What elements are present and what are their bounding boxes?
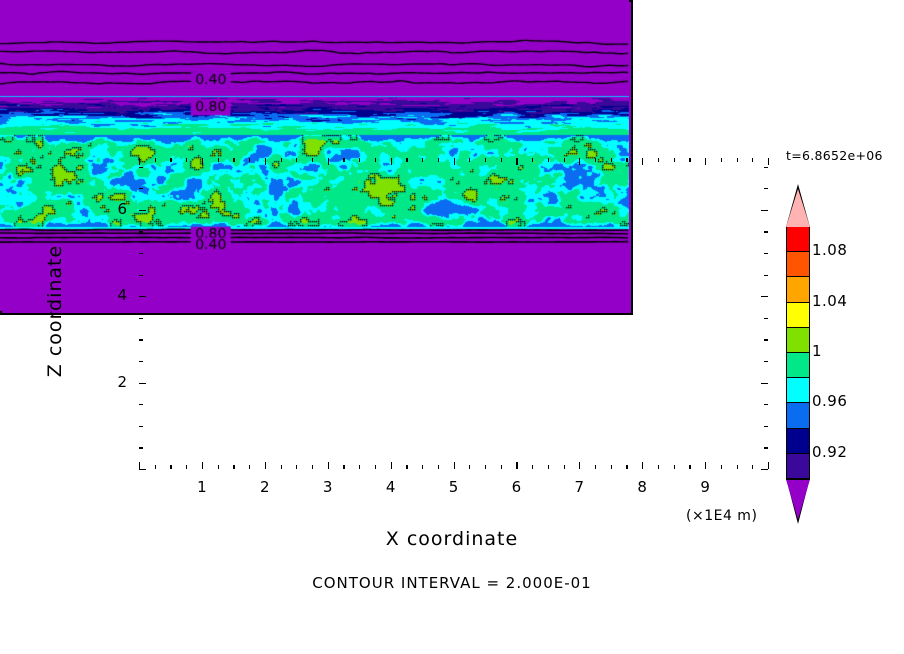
x-tick (296, 465, 297, 469)
x-tick-label: 7 (564, 478, 594, 496)
y-tick (139, 318, 143, 319)
x-tick-top (705, 158, 706, 165)
y-tick-right (764, 361, 768, 362)
x-tick (249, 465, 250, 469)
y-axis-title: Z coordinate (44, 231, 66, 391)
y-tick-label: 6 (103, 200, 127, 218)
x-tick-label: 1 (187, 478, 217, 496)
x-tick (501, 465, 502, 469)
x-tick-top (532, 158, 533, 162)
contour-plot-area (0, 0, 633, 315)
colorbar-tick-label: 1 (812, 342, 822, 360)
y-tick-right (761, 296, 768, 297)
x-tick (328, 462, 329, 469)
x-tick-label: 3 (313, 478, 343, 496)
y-tick-right (764, 339, 768, 340)
x-tick-top (595, 158, 596, 162)
colorbar-segment (786, 453, 810, 480)
x-tick-top (438, 158, 439, 162)
y-tick (139, 210, 146, 211)
x-tick (564, 465, 565, 469)
x-tick-top (375, 158, 376, 162)
x-tick (752, 465, 753, 469)
x-tick (312, 465, 313, 469)
y-tick (139, 275, 143, 276)
x-tick (595, 465, 596, 469)
x-tick (359, 465, 360, 469)
y-tick-right (764, 188, 768, 189)
y-tick-right (764, 447, 768, 448)
x-tick-top (170, 158, 171, 162)
x-tick-top (658, 158, 659, 162)
x-tick (218, 465, 219, 469)
colorbar (780, 206, 810, 514)
colorbar-segment (786, 352, 810, 379)
colorbar-segment (786, 251, 810, 278)
x-tick-top (752, 158, 753, 162)
x-tick-top (611, 158, 612, 162)
x-tick-label: 8 (627, 478, 657, 496)
x-tick-top (768, 158, 769, 165)
y-tick (139, 469, 146, 470)
x-tick (139, 462, 140, 469)
x-tick (532, 465, 533, 469)
x-tick-label: 9 (690, 478, 720, 496)
x-tick-top (233, 158, 234, 162)
y-tick (139, 296, 146, 297)
x-tick-top (328, 158, 329, 165)
x-axis-unit-label: (×1E4 m) (686, 508, 757, 524)
x-tick-top (281, 158, 282, 162)
x-tick-top (343, 158, 344, 162)
y-tick (139, 361, 143, 362)
x-tick (737, 465, 738, 469)
x-tick-top (391, 158, 392, 165)
y-tick-label: 2 (103, 373, 127, 391)
x-tick-top (186, 158, 187, 162)
x-tick (674, 465, 675, 469)
y-tick-right (764, 404, 768, 405)
y-tick (139, 447, 143, 448)
y-tick (139, 253, 143, 254)
x-tick (454, 462, 455, 469)
saturation-field-canvas (0, 0, 629, 311)
colorbar-tick-label: 0.96 (812, 392, 847, 410)
y-tick-right (761, 469, 768, 470)
x-tick (516, 462, 517, 469)
x-tick-top (485, 158, 486, 162)
x-tick (422, 465, 423, 469)
x-tick (689, 465, 690, 469)
y-tick (139, 339, 143, 340)
x-tick-label: 2 (250, 478, 280, 496)
colorbar-tick-label: 0.92 (812, 443, 847, 461)
x-tick-top (548, 158, 549, 162)
colorbar-segment (786, 327, 810, 354)
y-tick (139, 383, 146, 384)
y-tick (139, 188, 143, 189)
x-tick (406, 465, 407, 469)
x-tick-top (737, 158, 738, 162)
x-tick-top (674, 158, 675, 162)
x-tick-top (296, 158, 297, 162)
x-tick (658, 465, 659, 469)
x-tick-label: 5 (439, 478, 469, 496)
x-tick (626, 465, 627, 469)
x-tick-top (202, 158, 203, 165)
x-tick (642, 462, 643, 469)
colorbar-segment (786, 377, 810, 404)
colorbar-top-arrow (786, 189, 810, 227)
colorbar-segment (786, 226, 810, 253)
x-tick (202, 462, 203, 469)
y-tick (139, 404, 143, 405)
x-tick-top (564, 158, 565, 162)
x-tick (721, 465, 722, 469)
y-tick (139, 426, 143, 427)
x-tick-top (155, 158, 156, 162)
x-tick (265, 462, 266, 469)
x-tick-top (454, 158, 455, 165)
colorbar-tick-label: 1.08 (812, 241, 847, 259)
x-tick (438, 465, 439, 469)
y-tick-right (764, 167, 768, 168)
timestamp-label: t=6.8652e+06 (786, 148, 883, 163)
x-tick-top (469, 158, 470, 162)
x-tick (548, 465, 549, 469)
x-tick-top (626, 158, 627, 162)
x-tick-top (359, 158, 360, 162)
colorbar-segment (786, 302, 810, 329)
x-tick (611, 465, 612, 469)
x-tick-top (579, 158, 580, 165)
x-tick-top (516, 158, 517, 165)
colorbar-segment (786, 402, 810, 429)
x-tick (170, 465, 171, 469)
y-tick-right (764, 318, 768, 319)
y-tick-right (761, 383, 768, 384)
x-tick-label: 4 (376, 478, 406, 496)
x-axis-title: X coordinate (0, 528, 904, 550)
y-tick-right (764, 253, 768, 254)
y-tick (139, 167, 143, 168)
x-tick-top (406, 158, 407, 162)
colorbar-tick-label: 1.04 (812, 292, 847, 310)
x-tick-top (265, 158, 266, 165)
contour-interval-caption: CONTOUR INTERVAL = 2.000E-01 (0, 574, 904, 592)
x-tick (186, 465, 187, 469)
x-tick-top (642, 158, 643, 165)
y-tick (139, 231, 143, 232)
x-tick-top (501, 158, 502, 162)
y-tick-right (761, 210, 768, 211)
x-tick (705, 462, 706, 469)
x-tick (233, 465, 234, 469)
x-tick (579, 462, 580, 469)
y-tick-right (764, 426, 768, 427)
colorbar-segment (786, 276, 810, 303)
x-tick (391, 462, 392, 469)
y-tick-label: 4 (103, 286, 127, 304)
y-tick-right (764, 231, 768, 232)
x-tick (155, 465, 156, 469)
colorbar-bottom-arrow (786, 480, 810, 520)
x-tick-label: 6 (501, 478, 531, 496)
x-tick (281, 465, 282, 469)
y-tick-right (764, 275, 768, 276)
x-tick-top (249, 158, 250, 162)
x-tick (469, 465, 470, 469)
x-tick-top (689, 158, 690, 162)
x-tick-top (139, 158, 140, 165)
x-tick (343, 465, 344, 469)
colorbar-segment (786, 428, 810, 455)
x-tick-top (218, 158, 219, 162)
x-tick-top (721, 158, 722, 162)
x-tick (375, 465, 376, 469)
x-tick-top (422, 158, 423, 162)
x-tick (768, 462, 769, 469)
x-tick (485, 465, 486, 469)
x-tick-top (312, 158, 313, 162)
